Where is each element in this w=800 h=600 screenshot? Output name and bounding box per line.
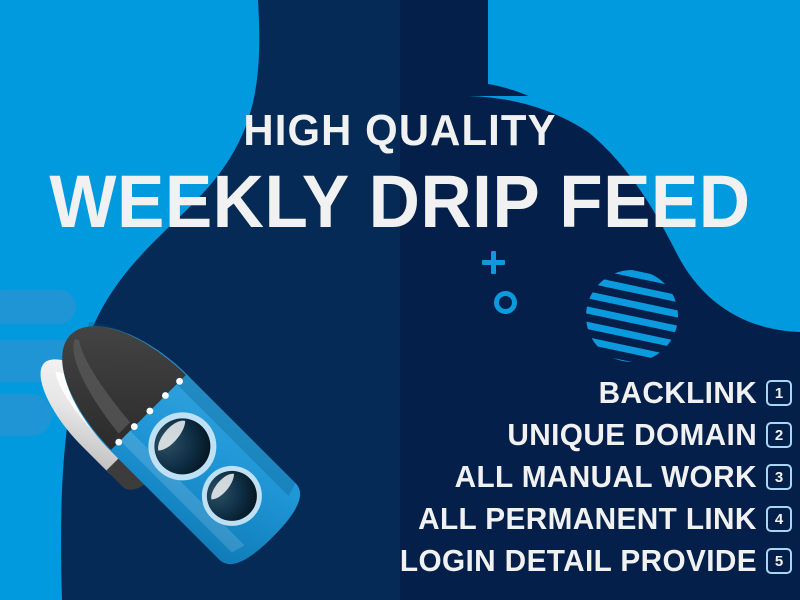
striped-circle-icon [586,270,678,362]
feature-label: ALL PERMANENT LINK [418,503,757,535]
feature-number-badge: 5 [766,548,792,574]
feature-label: UNIQUE DOMAIN [507,419,757,451]
feature-number-badge: 4 [766,506,792,532]
feature-number-badge: 3 [766,464,792,490]
list-item: UNIQUE DOMAIN 2 [497,414,792,456]
list-item: ALL PERMANENT LINK 4 [404,498,792,540]
feature-number-badge: 1 [766,380,792,406]
list-item: LOGIN DETAIL PROVIDE 5 [385,540,792,582]
feature-label: BACKLINK [599,377,757,409]
list-item: BACKLINK 1 [592,372,792,414]
feature-label: ALL MANUAL WORK [455,461,757,493]
feature-label: LOGIN DETAIL PROVIDE [400,545,757,577]
feature-list: BACKLINK 1 UNIQUE DOMAIN 2 ALL MANUAL WO… [232,372,792,582]
circle-outline-icon [494,291,517,314]
poster-canvas: HIGH QUALITY WEEKLY DRIP FEED [0,0,800,600]
plus-icon [482,251,505,274]
list-item: ALL MANUAL WORK 3 [442,456,792,498]
feature-number-badge: 2 [766,422,792,448]
